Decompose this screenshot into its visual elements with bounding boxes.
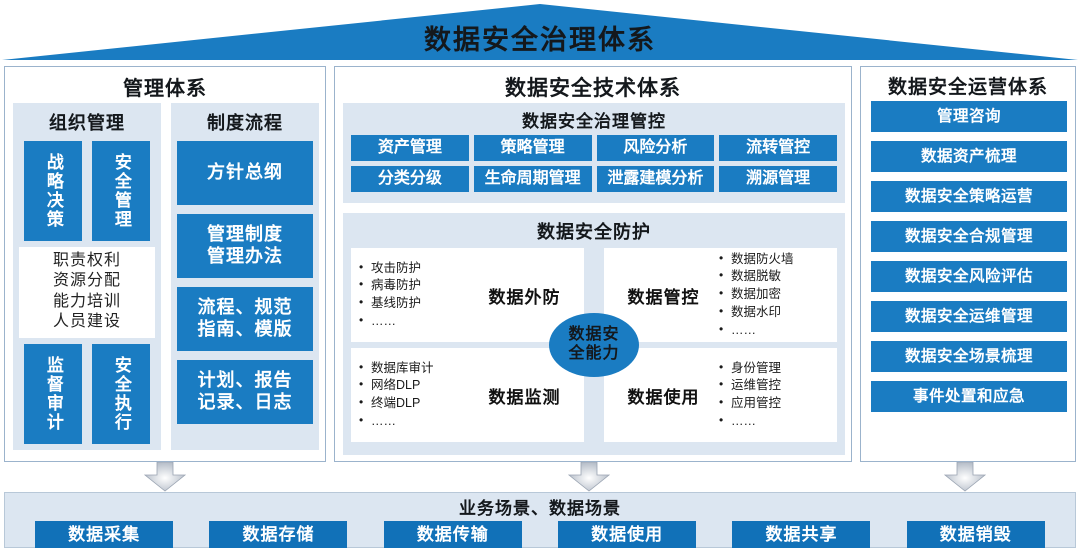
quadrant-list-item: 网络DLP (371, 377, 471, 395)
org-bottom-boxes: 监督审计 安全执行 (19, 344, 155, 444)
governance-button-2[interactable]: 生命周期管理 (474, 166, 592, 192)
quadrant-label: 数据监测 (471, 383, 578, 408)
quadrant-list-item: 数据库审计 (371, 360, 471, 378)
governance-button-1[interactable]: 分类分级 (351, 166, 469, 192)
quadrant-label: 数据外防 (471, 283, 578, 308)
data-security-capability-ellipse: 数据安 全能力 (549, 313, 639, 377)
business-scenario-bar: 业务场景、数据场景 数据采集数据存储数据传输数据使用数据共享数据销毁 (4, 492, 1076, 548)
process-item-line: 记录、日志 (198, 392, 293, 414)
management-system-panel: 管理体系 组织管理 战略决策 安全管理 职责权利 资源分配 能力培训 人员建设 … (4, 66, 326, 462)
scenario-button-3[interactable]: 数据传输 (384, 521, 522, 548)
process-item-3[interactable]: 流程、规范指南、模版 (177, 287, 313, 351)
down-arrow-icon-left (144, 462, 186, 492)
quadrant-list-item: …… (731, 413, 831, 431)
org-box-strategy-decision[interactable]: 战略决策 (24, 141, 82, 241)
governance-button-2[interactable]: 策略管理 (474, 135, 592, 161)
protection-quadrant-3: 数据库审计网络DLP终端DLP……数据监测 (351, 348, 584, 442)
management-columns: 组织管理 战略决策 安全管理 职责权利 资源分配 能力培训 人员建设 监督审计 … (13, 103, 319, 450)
operations-item-4[interactable]: 数据安全合规管理 (871, 221, 1067, 252)
org-note-line-1: 职责权利 (19, 251, 155, 271)
scenario-button-6[interactable]: 数据销毁 (907, 521, 1045, 548)
quadrant-list-item: 数据脱敏 (731, 268, 831, 286)
org-box-security-management[interactable]: 安全管理 (92, 141, 150, 241)
quadrant-label: 数据管控 (610, 283, 717, 308)
governance-button-3[interactable]: 泄露建模分析 (597, 166, 715, 192)
quadrant-list-item: 数据加密 (731, 286, 831, 304)
process-item-2[interactable]: 管理制度管理办法 (177, 214, 313, 278)
governance-control-title: 数据安全治理管控 (343, 103, 845, 135)
protection-quadrant-1: 攻击防护病毒防护基线防护……数据外防 (351, 248, 584, 342)
quadrant-list-item: 数据防火墙 (731, 251, 831, 269)
org-note-line-2: 资源分配 (19, 271, 155, 291)
quadrant-item-list: 数据库审计网络DLP终端DLP…… (357, 360, 471, 431)
process-item-line: 管理办法 (207, 246, 283, 268)
org-note-line-3: 能力培训 (19, 292, 155, 312)
protection-quadrant-grid: 攻击防护病毒防护基线防护……数据外防数据防火墙数据脱敏数据加密数据水印……数据管… (351, 248, 837, 442)
quadrant-list-item: …… (371, 313, 471, 331)
page-title: 数据安全治理体系 (0, 18, 1080, 57)
quadrant-list-item: 攻击防护 (371, 260, 471, 278)
process-item-line: 指南、模版 (198, 319, 293, 341)
quadrant-list-item: 数据水印 (731, 304, 831, 322)
protection-quadrant-4: 身份管理运维管控应用管控……数据使用 (604, 348, 837, 442)
data-protection-title: 数据安全防护 (343, 213, 845, 248)
capability-line-2: 全能力 (568, 345, 619, 364)
quadrant-list-item: 病毒防护 (371, 277, 471, 295)
operations-item-3[interactable]: 数据安全策略运营 (871, 181, 1067, 212)
scenario-button-2[interactable]: 数据存储 (209, 521, 347, 548)
process-item-line: 方针总纲 (207, 162, 283, 184)
governance-row-1: 资产管理策略管理风险分析流转管控 (343, 135, 845, 161)
technology-system-title: 数据安全技术体系 (335, 67, 851, 97)
governance-button-4[interactable]: 流转管控 (719, 135, 837, 161)
org-note-line-4: 人员建设 (19, 312, 155, 332)
org-management-title: 组织管理 (19, 109, 155, 135)
org-box-supervision-audit[interactable]: 监督审计 (24, 344, 82, 444)
governance-control-section: 数据安全治理管控 资产管理策略管理风险分析流转管控 分类分级生命周期管理泄露建模… (343, 103, 845, 203)
governance-button-4[interactable]: 溯源管理 (719, 166, 837, 192)
scenario-button-4[interactable]: 数据使用 (558, 521, 696, 548)
governance-button-3[interactable]: 风险分析 (597, 135, 715, 161)
business-scenario-title: 业务场景、数据场景 (5, 493, 1075, 519)
quadrant-item-list: 攻击防护病毒防护基线防护…… (357, 260, 471, 331)
operations-system-title: 数据安全运营体系 (861, 67, 1075, 97)
org-box-security-execution[interactable]: 安全执行 (92, 344, 150, 444)
protection-quadrant-2: 数据防火墙数据脱敏数据加密数据水印……数据管控 (604, 248, 837, 342)
quadrant-list-item: 终端DLP (371, 395, 471, 413)
quadrant-list-item: …… (731, 322, 831, 340)
operations-item-1[interactable]: 管理咨询 (871, 101, 1067, 132)
technology-system-panel: 数据安全技术体系 数据安全治理管控 资产管理策略管理风险分析流转管控 分类分级生… (334, 66, 852, 462)
process-item-line: 管理制度 (207, 224, 283, 246)
process-system-column: 制度流程 方针总纲管理制度管理办法流程、规范指南、模版计划、报告记录、日志 (171, 103, 319, 450)
process-item-line: 计划、报告 (198, 370, 293, 392)
scenario-button-1[interactable]: 数据采集 (35, 521, 173, 548)
operations-system-panel: 数据安全运营体系 管理咨询数据资产梳理数据安全策略运营数据安全合规管理数据安全风… (860, 66, 1076, 462)
data-protection-section: 数据安全防护 攻击防护病毒防护基线防护……数据外防数据防火墙数据脱敏数据加密数据… (343, 213, 845, 455)
management-system-title: 管理体系 (5, 67, 325, 97)
quadrant-list-item: 应用管控 (731, 395, 831, 413)
quadrant-item-list: 身份管理运维管控应用管控…… (717, 360, 831, 431)
org-management-column: 组织管理 战略决策 安全管理 职责权利 资源分配 能力培训 人员建设 监督审计 … (13, 103, 161, 450)
quadrant-list-item: …… (371, 413, 471, 431)
org-top-boxes: 战略决策 安全管理 (19, 141, 155, 241)
process-item-line: 流程、规范 (198, 297, 293, 319)
operations-item-8[interactable]: 事件处置和应急 (871, 381, 1067, 412)
operations-item-7[interactable]: 数据安全场景梳理 (871, 341, 1067, 372)
governance-button-1[interactable]: 资产管理 (351, 135, 469, 161)
process-items-list: 方针总纲管理制度管理办法流程、规范指南、模版计划、报告记录、日志 (177, 141, 313, 424)
operations-item-2[interactable]: 数据资产梳理 (871, 141, 1067, 172)
process-item-4[interactable]: 计划、报告记录、日志 (177, 360, 313, 424)
down-arrow-icon-right (944, 462, 986, 492)
process-system-title: 制度流程 (177, 109, 313, 135)
operations-items-list: 管理咨询数据资产梳理数据安全策略运营数据安全合规管理数据安全风险评估数据安全运维… (871, 101, 1067, 412)
capability-line-1: 数据安 (568, 326, 619, 345)
governance-row-2: 分类分级生命周期管理泄露建模分析溯源管理 (343, 166, 845, 192)
process-item-1[interactable]: 方针总纲 (177, 141, 313, 205)
business-scenario-buttons: 数据采集数据存储数据传输数据使用数据共享数据销毁 (5, 519, 1075, 548)
quadrant-label: 数据使用 (610, 383, 717, 408)
quadrant-list-item: 身份管理 (731, 360, 831, 378)
down-arrow-icon-center (568, 462, 610, 492)
quadrant-list-item: 运维管控 (731, 377, 831, 395)
quadrant-list-item: 基线防护 (371, 295, 471, 313)
operations-item-6[interactable]: 数据安全运维管理 (871, 301, 1067, 332)
operations-item-5[interactable]: 数据安全风险评估 (871, 261, 1067, 292)
scenario-button-5[interactable]: 数据共享 (732, 521, 870, 548)
org-responsibilities-note: 职责权利 资源分配 能力培训 人员建设 (19, 247, 155, 338)
quadrant-item-list: 数据防火墙数据脱敏数据加密数据水印…… (717, 251, 831, 340)
